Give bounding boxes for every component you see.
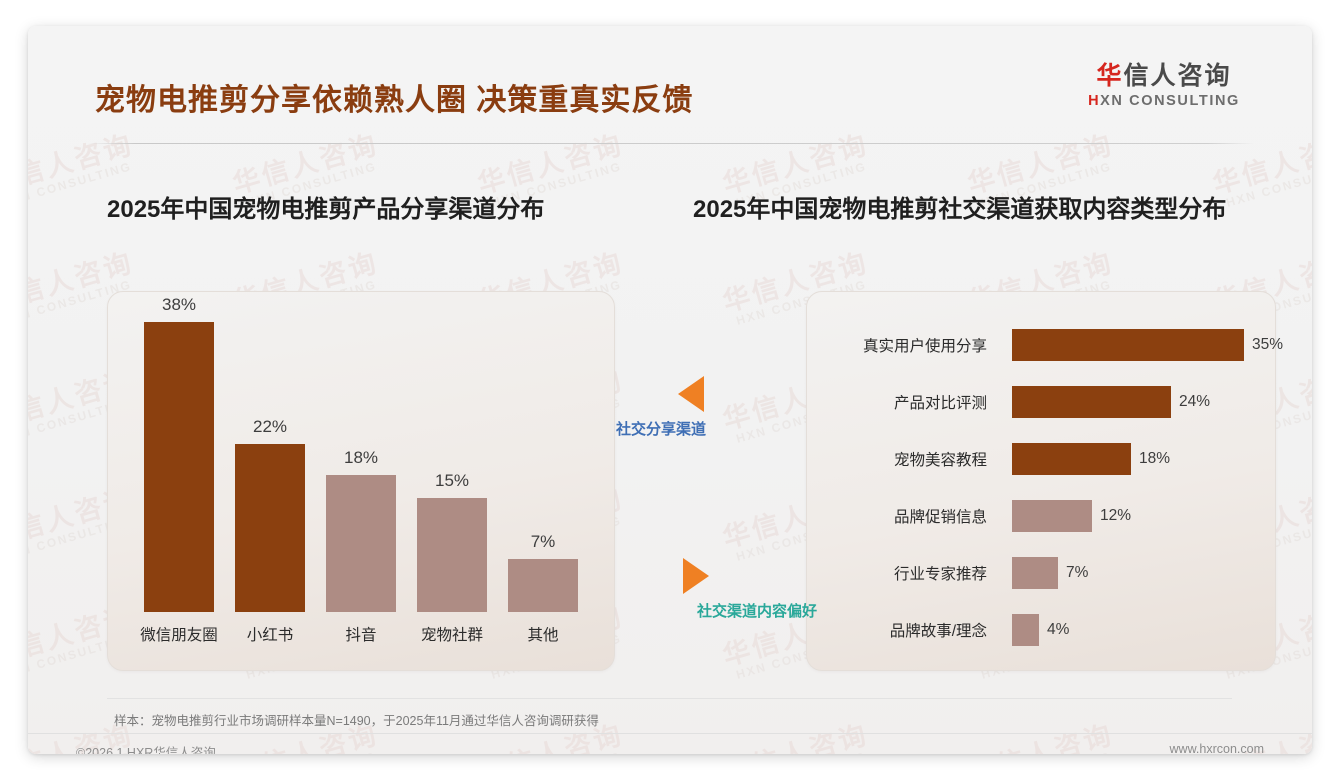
bar-rect — [1012, 386, 1171, 418]
bar-value-label: 18% — [344, 448, 378, 468]
triangle-right-icon — [683, 558, 709, 594]
bar-rect — [1012, 443, 1131, 475]
footer-website[interactable]: www.hxrcon.com — [1170, 742, 1264, 754]
watermark-cn: 华信人咨询 — [720, 721, 872, 754]
bar-category-label: 品牌故事/理念 — [807, 619, 987, 641]
chart-panel-left: 38%微信朋友圈22%小红书18%抖音15%宠物社群7%其他 — [107, 291, 615, 671]
vertical-bar-chart: 38%微信朋友圈22%小红书18%抖音15%宠物社群7%其他 — [108, 292, 614, 670]
chart-title-left: 2025年中国宠物电推剪产品分享渠道分布 — [107, 189, 544, 224]
slide-canvas: 华信人咨询HXN CONSULTING华信人咨询HXN CONSULTING华信… — [28, 26, 1312, 754]
logo-chinese-rest: 信人咨询 — [1124, 62, 1232, 90]
page-title: 宠物电推剪分享依赖熟人圈 决策重真实反馈 — [95, 75, 693, 119]
horizontal-bar-chart: 真实用户使用分享35%产品对比评测24%宠物美容教程18%品牌促销信息12%行业… — [807, 292, 1275, 670]
watermark-en: HXN CONSULTING — [1217, 157, 1312, 213]
bar-value-label: 38% — [162, 295, 196, 315]
bar-value-label: 4% — [1047, 621, 1069, 639]
bar-rect — [235, 444, 305, 612]
bar-value-label: 12% — [1100, 507, 1131, 525]
logo-english: HXN CONSULTING — [1059, 93, 1269, 109]
triangle-left-icon — [678, 376, 704, 412]
bar-value-label: 7% — [1066, 564, 1088, 582]
watermark-en: HXN CONSULTING — [727, 747, 875, 754]
horizontal-bar-row[interactable]: 品牌故事/理念4% — [807, 613, 1275, 647]
horizontal-bar-row[interactable]: 品牌促销信息12% — [807, 499, 1275, 533]
bar-category-label: 真实用户使用分享 — [807, 334, 987, 356]
footnote-divider — [107, 698, 1232, 699]
bar-category-label: 产品对比评测 — [807, 391, 987, 413]
watermark-text: 华信人咨询HXN CONSULTING — [965, 721, 1121, 754]
bar-value-label: 24% — [1179, 393, 1210, 411]
logo-chinese: 华信人咨询 — [1059, 62, 1269, 91]
sample-footnote: 样本：宠物电推剪行业市场调研样本量N=1490，于2025年11月通过华信人咨询… — [114, 710, 599, 729]
brand-logo: 华信人咨询 HXN CONSULTING — [1059, 62, 1269, 109]
bar-value-label: 7% — [531, 532, 556, 552]
watermark-text: 华信人咨询HXN CONSULTING — [720, 721, 876, 754]
horizontal-bar-row[interactable]: 真实用户使用分享35% — [807, 328, 1275, 362]
vertical-bar-column[interactable]: 22% — [235, 417, 305, 612]
annotation-social-share-channel: 社交分享渠道 — [678, 376, 706, 439]
watermark-en: HXN CONSULTING — [972, 747, 1120, 754]
footer-divider — [28, 733, 1312, 734]
vertical-bar-column[interactable]: 18% — [326, 448, 396, 612]
chart-title-right: 2025年中国宠物电推剪社交渠道获取内容类型分布 — [693, 189, 1226, 224]
bar-value-label: 35% — [1252, 336, 1283, 354]
slide-header: 宠物电推剪分享依赖熟人圈 决策重真实反馈 华信人咨询 HXN CONSULTIN… — [28, 26, 1312, 126]
bar-category-label: 行业专家推荐 — [807, 562, 987, 584]
horizontal-bar-row[interactable]: 产品对比评测24% — [807, 385, 1275, 419]
watermark-en: HXN CONSULTING — [482, 747, 630, 754]
logo-chinese-accent: 华 — [1096, 62, 1123, 90]
bar-rect — [417, 498, 487, 612]
vertical-bar-column[interactable]: 7% — [508, 532, 578, 612]
annotation-label-1: 社交分享渠道 — [616, 418, 706, 439]
footer-copyright: ©2026.1 HXR华信人咨询 — [76, 742, 216, 754]
bar-category-label: 其他 — [478, 623, 608, 645]
bar-category-label: 宠物美容教程 — [807, 448, 987, 470]
bar-rect — [508, 559, 578, 612]
bar-value-label: 22% — [253, 417, 287, 437]
bar-rect — [1012, 329, 1244, 361]
bar-rect — [144, 322, 214, 612]
annotation-label-2: 社交渠道内容偏好 — [697, 600, 817, 621]
vertical-bar-column[interactable]: 15% — [417, 471, 487, 612]
watermark-en: HXN CONSULTING — [237, 747, 385, 754]
bar-value-label: 15% — [435, 471, 469, 491]
bar-category-label: 品牌促销信息 — [807, 505, 987, 527]
vertical-bar-column[interactable]: 38% — [144, 295, 214, 612]
annotation-social-content-preference: 社交渠道内容偏好 — [683, 558, 817, 621]
watermark-cn: 华信人咨询 — [965, 721, 1117, 754]
bar-value-label: 18% — [1139, 450, 1170, 468]
horizontal-bar-row[interactable]: 宠物美容教程18% — [807, 442, 1275, 476]
bar-rect — [1012, 500, 1092, 532]
chart-panel-right: 真实用户使用分享35%产品对比评测24%宠物美容教程18%品牌促销信息12%行业… — [806, 291, 1276, 671]
logo-english-rest: XN CONSULTING — [1100, 93, 1240, 109]
horizontal-bar-row[interactable]: 行业专家推荐7% — [807, 556, 1275, 590]
bar-rect — [1012, 557, 1058, 589]
bar-rect — [1012, 614, 1039, 646]
header-divider — [88, 143, 1254, 144]
bar-rect — [326, 475, 396, 612]
logo-english-accent: H — [1088, 93, 1100, 109]
